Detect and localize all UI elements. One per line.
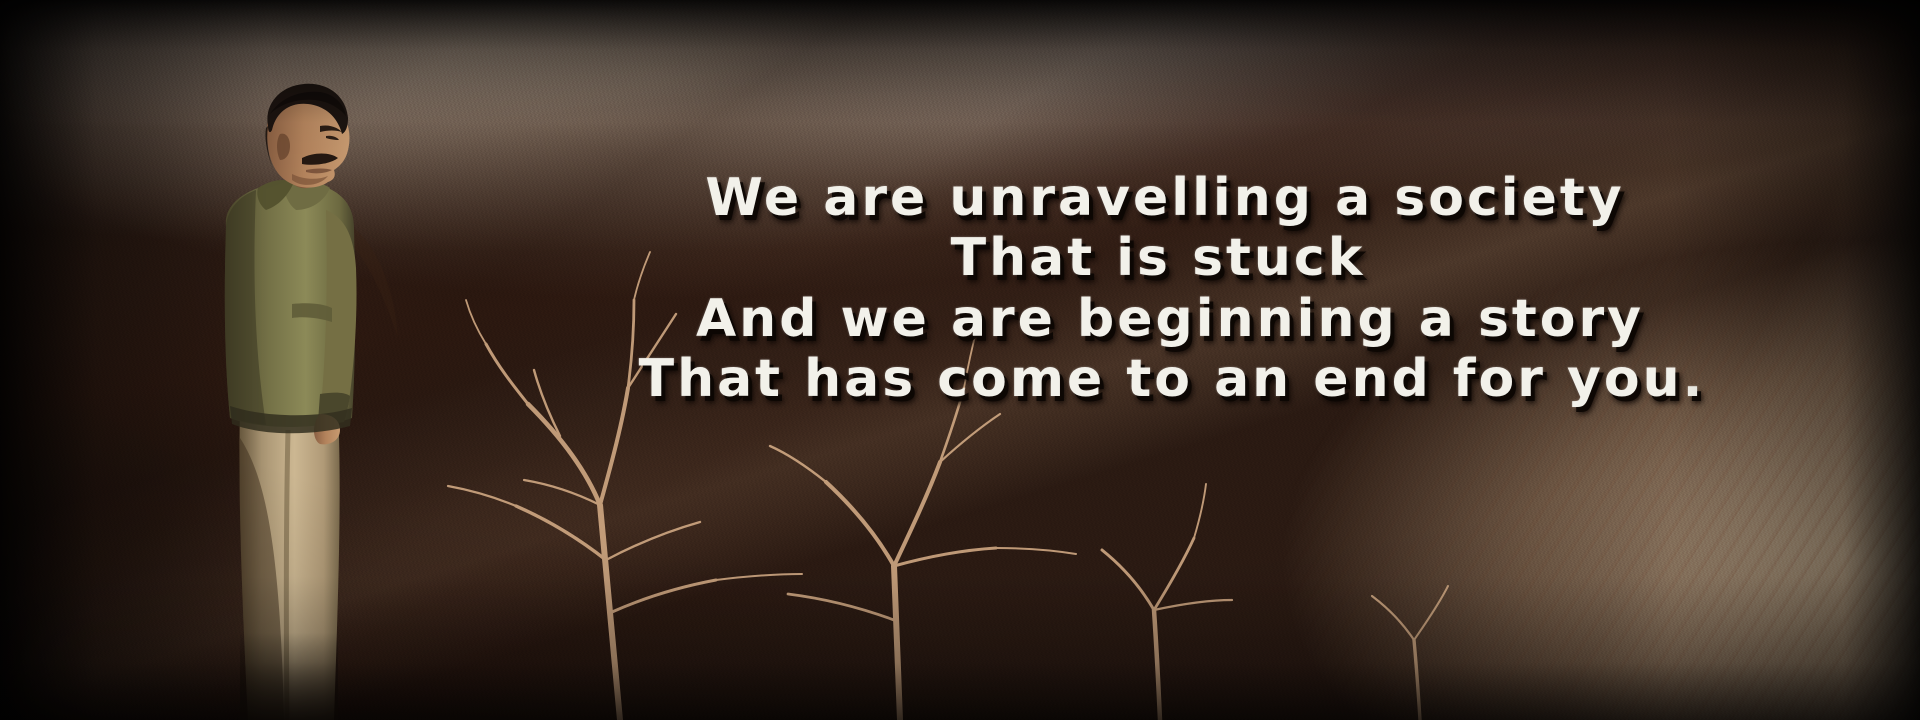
quote-line-2: That is stuck <box>430 228 1886 288</box>
quote-line-4: That has come to an end for you. <box>444 349 1900 409</box>
quote-line-3: And we are beginning a story <box>440 289 1900 349</box>
standing-man-figure <box>188 78 404 720</box>
quote-line-1: We are unravelling a society <box>430 168 1900 228</box>
quote-text-block: We are unravelling a society That is stu… <box>430 168 1900 409</box>
quote-banner: We are unravelling a society That is stu… <box>0 0 1920 720</box>
